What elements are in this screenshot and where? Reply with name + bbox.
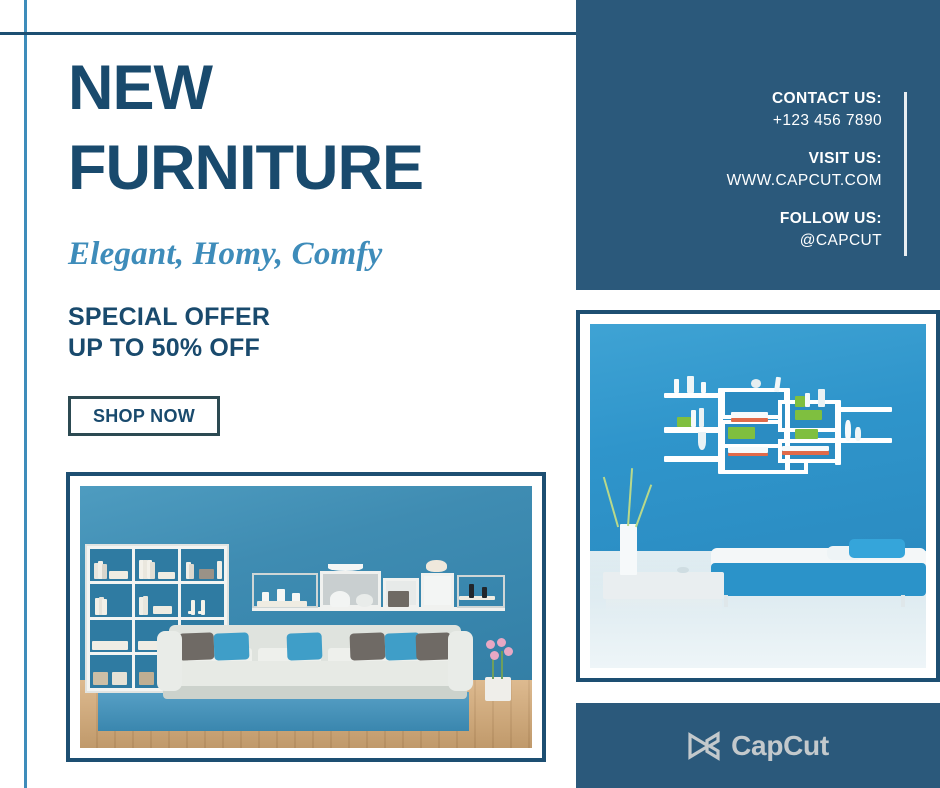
bedroom-photo-frame	[576, 310, 940, 682]
offer-line-1: SPECIAL OFFER	[68, 302, 270, 333]
page-title-line-1: NEW	[68, 58, 538, 120]
br-daybed	[711, 537, 926, 613]
left-vertical-rule	[24, 0, 27, 788]
contact-group-website: VISIT US: WWW.CAPCUT.COM	[727, 148, 882, 192]
page-title-line-2: FURNITURE	[68, 138, 538, 200]
br-vase	[620, 524, 637, 576]
tagline: Elegant, Homy, Comfy	[68, 236, 382, 273]
offer-line-2: UP TO 50% OFF	[68, 333, 270, 364]
capcut-wordmark: CapCut	[731, 730, 829, 762]
headline-block: NEW FURNITURE	[68, 58, 538, 199]
capcut-branding-bar: CapCut	[576, 703, 940, 788]
poster-canvas: CONTACT US: +123 456 7890 VISIT US: WWW.…	[0, 0, 940, 788]
contact-website-value[interactable]: WWW.CAPCUT.COM	[727, 170, 882, 192]
capcut-bowtie-icon	[687, 731, 721, 761]
br-table-object	[677, 567, 688, 574]
br-low-table	[603, 572, 724, 600]
living-room-photo	[80, 486, 532, 748]
follow-label: FOLLOW US:	[727, 208, 882, 230]
contact-group-social: FOLLOW US: @CAPCUT	[727, 208, 882, 252]
bedroom-photo	[590, 324, 926, 668]
contact-label: CONTACT US:	[727, 88, 882, 110]
lr-orchid-plant	[478, 638, 519, 701]
contact-group-phone: CONTACT US: +123 456 7890	[727, 88, 882, 132]
contact-phone-value[interactable]: +123 456 7890	[727, 110, 882, 132]
contact-divider-rule	[904, 92, 907, 256]
lr-wall-shelf	[252, 570, 505, 617]
lr-sofa	[157, 625, 473, 704]
contact-social-value[interactable]: @CAPCUT	[727, 230, 882, 252]
shop-now-button[interactable]: SHOP NOW	[68, 396, 220, 436]
offer-block: SPECIAL OFFER UP TO 50% OFF	[68, 302, 270, 363]
living-room-photo-frame	[66, 472, 546, 762]
contact-details: CONTACT US: +123 456 7890 VISIT US: WWW.…	[727, 88, 882, 252]
visit-label: VISIT US:	[727, 148, 882, 170]
